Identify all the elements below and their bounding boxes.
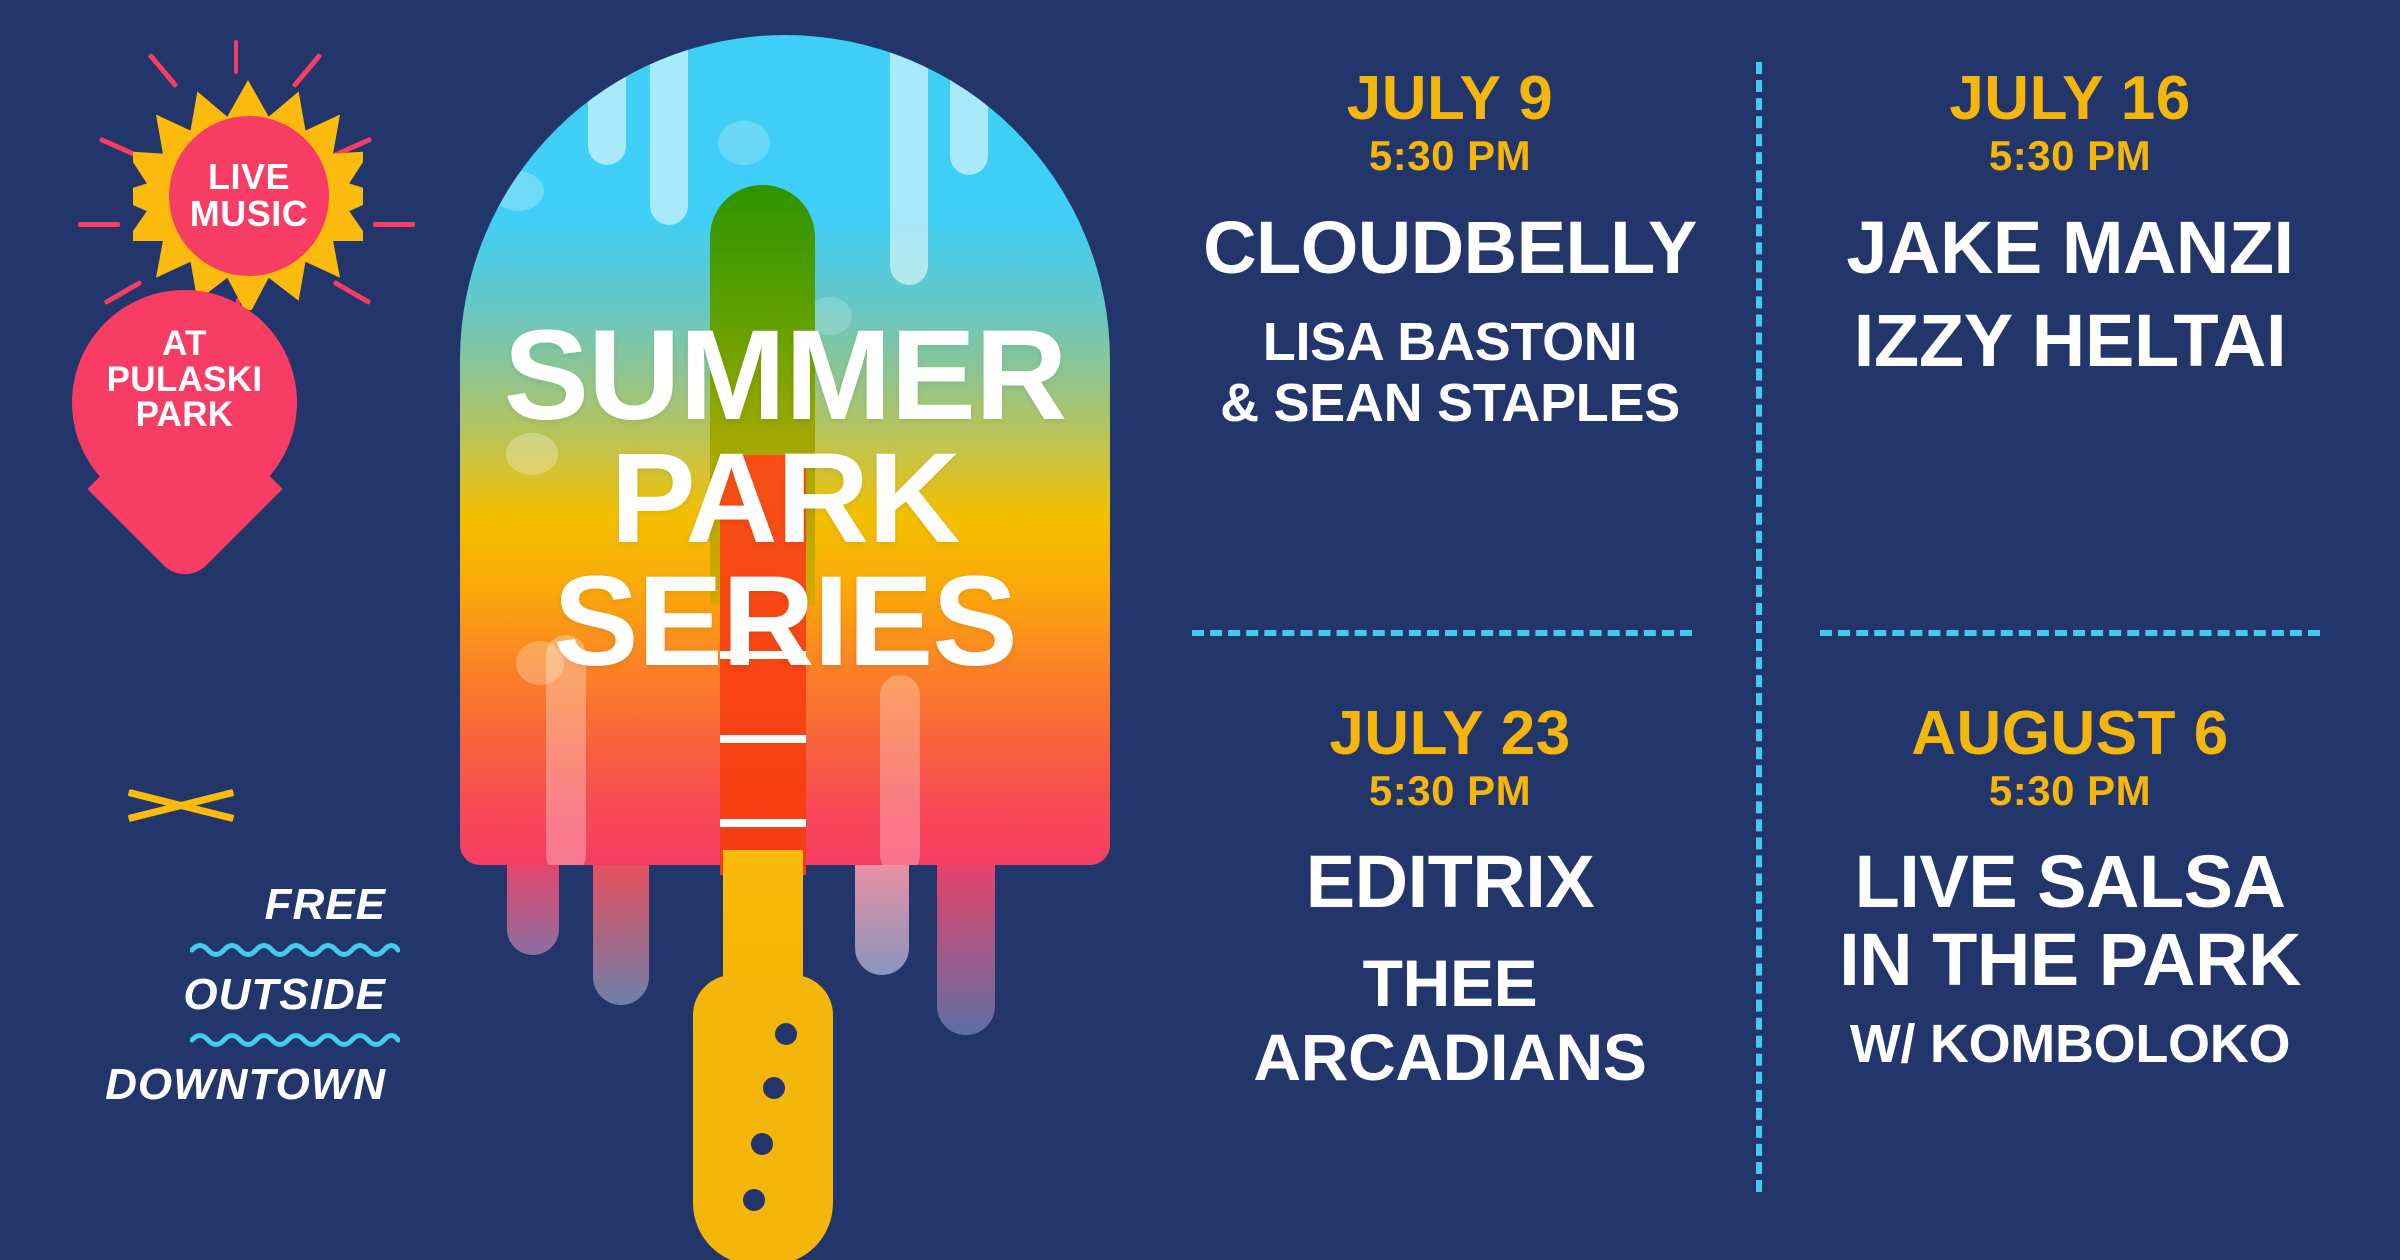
title-line-3: SERIES <box>445 561 1125 684</box>
event-time: 5:30 PM <box>1989 130 2151 183</box>
pin-line-2: PULASKI <box>72 362 297 398</box>
support-line: ARCADIANS <box>1253 1021 1646 1095</box>
lineup-slot[interactable]: AUGUST 6 5:30 PM LIVE SALSA IN THE PARK … <box>1760 633 2360 1206</box>
support-acts: LISA BASTONI & SEAN STAPLES <box>1220 312 1680 433</box>
sunburst-ray <box>292 53 323 88</box>
popsicle-guitar-illustration: SUMMER PARK SERIES <box>445 35 1125 1260</box>
highlight-bubble <box>492 171 544 211</box>
badge-line-2: MUSIC <box>190 196 309 233</box>
poster-title: SUMMER PARK SERIES <box>445 315 1125 684</box>
guitar-fret <box>720 735 806 743</box>
tagline-block: FREE OUTSIDE DOWNTOWN <box>0 880 400 1110</box>
sunburst-ray <box>333 280 372 305</box>
highlight-bubble <box>718 121 770 165</box>
support-acts: THEE ARCADIANS <box>1253 947 1646 1095</box>
summer-park-series-poster: LIVE MUSIC AT PULASKI PARK FREE <box>0 0 2400 1260</box>
support-line: IZZY HELTAI <box>1854 300 2286 383</box>
location-pin: AT PULASKI PARK <box>72 290 322 560</box>
headliner-line: EDITRIX <box>1306 843 1594 921</box>
event-date: JULY 16 <box>1949 68 2190 130</box>
headliner-line: JAKE MANZI <box>1846 209 2293 287</box>
guitar-headstock <box>693 975 833 1260</box>
tagline-free: FREE <box>0 880 400 930</box>
guitar-fret <box>720 819 806 827</box>
headliner-name: EDITRIX <box>1306 843 1594 921</box>
lineup-slot[interactable]: JULY 23 5:30 PM EDITRIX THEE ARCADIANS <box>1160 633 1760 1206</box>
support-line: W/ KOMBOLOKO <box>1850 1014 2290 1074</box>
live-music-circle: LIVE MUSIC <box>169 116 329 276</box>
title-line-2: PARK <box>445 438 1125 561</box>
inner-drip <box>890 35 928 285</box>
headliner-line: LIVE SALSA <box>1839 843 2301 921</box>
lineup-grid: JULY 9 5:30 PM CLOUDBELLY LISA BASTONI &… <box>1160 60 2360 1205</box>
inner-drip <box>650 35 688 225</box>
lineup-slot[interactable]: JULY 16 5:30 PM JAKE MANZI IZZY HELTAI <box>1760 60 2360 633</box>
tagline-downtown: DOWNTOWN <box>0 1060 400 1110</box>
headliner-line: IN THE PARK <box>1839 921 2301 999</box>
wavy-divider-icon <box>0 940 400 962</box>
title-line-1: SUMMER <box>445 315 1125 438</box>
support-line: & SEAN STAPLES <box>1220 373 1680 433</box>
cross-mark-icon <box>133 783 228 827</box>
tuning-peg-icon <box>743 1189 765 1211</box>
support-line: LISA BASTONI <box>1220 312 1680 372</box>
sunburst-ray <box>234 40 238 74</box>
tuning-peg-icon <box>775 1023 797 1045</box>
pin-label: AT PULASKI PARK <box>72 326 297 433</box>
left-info-column: LIVE MUSIC AT PULASKI PARK FREE <box>0 0 500 1260</box>
tagline-outside: OUTSIDE <box>0 970 400 1020</box>
event-date: AUGUST 6 <box>1911 703 2228 765</box>
tuning-peg-icon <box>763 1077 785 1099</box>
event-date: JULY 23 <box>1329 703 1570 765</box>
inner-drip <box>880 675 920 865</box>
pin-line-3: PARK <box>72 397 297 433</box>
headliner-name: JAKE MANZI <box>1846 209 2293 287</box>
event-time: 5:30 PM <box>1989 765 2151 818</box>
event-time: 5:30 PM <box>1369 765 1531 818</box>
drip-shape <box>593 845 649 1005</box>
pin-line-1: AT <box>72 326 297 362</box>
event-time: 5:30 PM <box>1369 130 1531 183</box>
headliner-name: CLOUDBELLY <box>1203 209 1697 287</box>
headliner-name: LIVE SALSA IN THE PARK <box>1839 843 2301 998</box>
event-date: JULY 9 <box>1347 68 1553 130</box>
badge-line-1: LIVE <box>208 159 290 196</box>
inner-drip <box>950 35 988 175</box>
sunburst-ray <box>373 222 415 227</box>
tuning-peg-icon <box>751 1133 773 1155</box>
support-acts: IZZY HELTAI <box>1854 300 2286 383</box>
drip-shape <box>937 845 995 1035</box>
wavy-divider-icon <box>0 1030 400 1052</box>
sunburst-ray <box>148 53 179 88</box>
support-line: THEE <box>1253 947 1646 1021</box>
support-acts: W/ KOMBOLOKO <box>1850 1014 2290 1074</box>
headliner-line: CLOUDBELLY <box>1203 209 1697 287</box>
lineup-slot[interactable]: JULY 9 5:30 PM CLOUDBELLY LISA BASTONI &… <box>1160 60 1760 633</box>
inner-drip <box>588 35 626 165</box>
sunburst-ray <box>78 222 120 227</box>
